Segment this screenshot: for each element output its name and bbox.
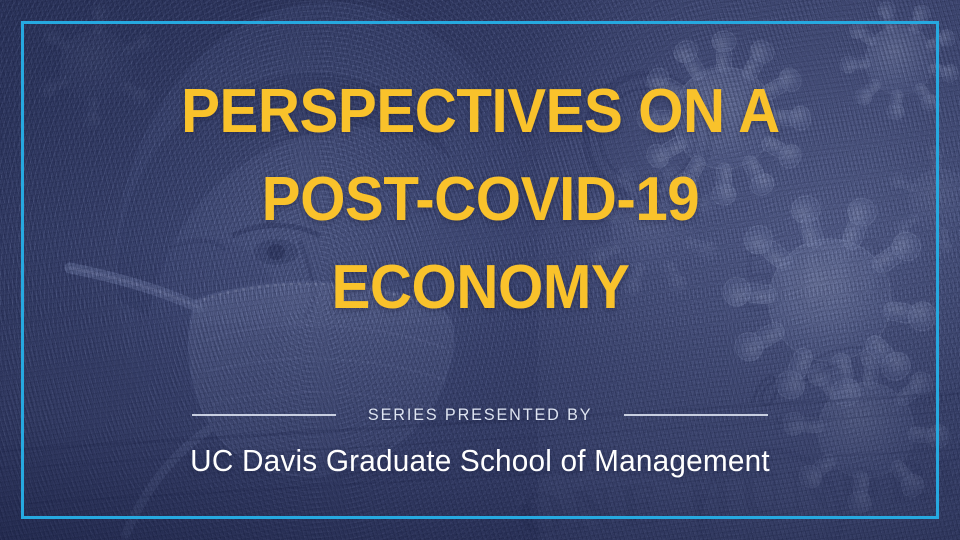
slide-content: PERSPECTIVES ON A POST-COVID-19 ECONOMY … [0,0,960,540]
title-line-3: ECONOMY [181,244,780,332]
presentation-slide: 50 0 1799 Secretary of the Treasury ONE … [0,0,960,540]
presented-by-row: SERIES PRESENTED BY [0,405,960,425]
title-line-2: POST-COVID-19 [181,156,780,244]
presented-by-label: SERIES PRESENTED BY [368,405,593,425]
title-line-1: PERSPECTIVES ON A [181,68,780,156]
divider-rule-left [192,414,336,416]
slide-title: PERSPECTIVES ON A POST-COVID-19 ECONOMY [181,0,780,332]
presenter-name: UC Davis Graduate School of Management [19,443,941,479]
divider-rule-right [624,414,768,416]
